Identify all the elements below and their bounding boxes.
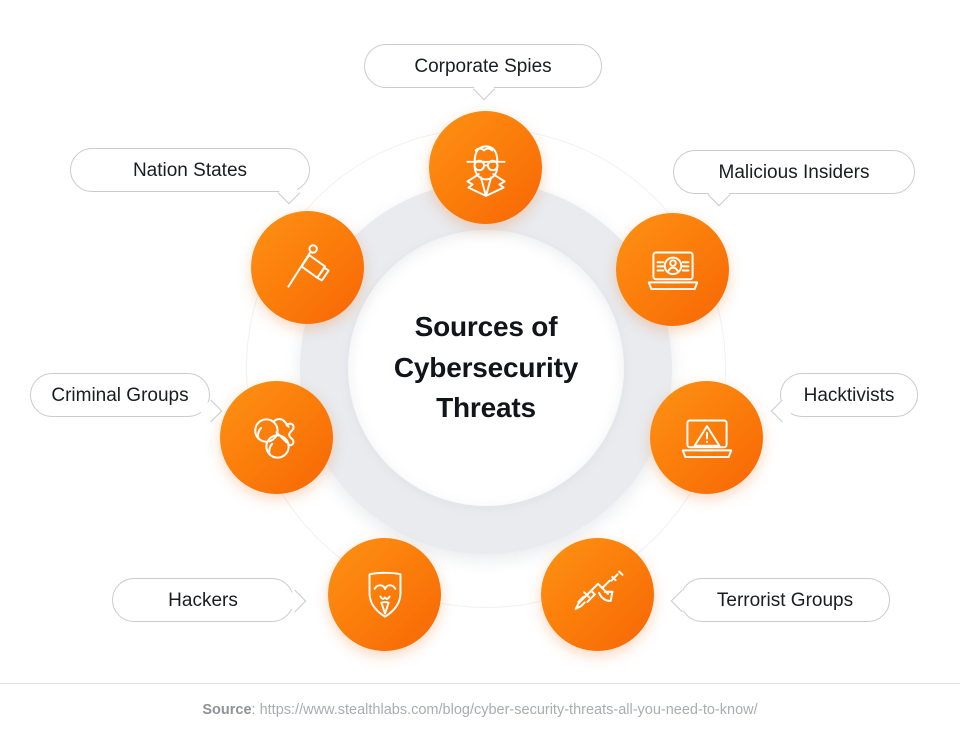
label-text: Terrorist Groups	[717, 591, 853, 610]
anonymous-mask-icon	[352, 562, 418, 628]
source-label: Source	[202, 702, 251, 718]
source-url[interactable]: https://www.stealthlabs.com/blog/cyber-s…	[260, 702, 758, 718]
spy-icon	[453, 135, 519, 201]
node-hackers[interactable]	[328, 538, 441, 651]
label-terrorist-groups[interactable]: Terrorist Groups	[680, 578, 890, 622]
node-nation-states[interactable]	[251, 211, 364, 324]
rifle-icon	[564, 561, 632, 629]
node-terrorist-groups[interactable]	[541, 538, 654, 651]
flag-icon	[275, 235, 341, 301]
node-hacktivists[interactable]	[650, 381, 763, 494]
laptop-user-icon	[640, 237, 706, 303]
label-nation-states[interactable]: Nation States	[70, 148, 310, 192]
label-text: Corporate Spies	[414, 57, 551, 76]
footer-divider	[0, 683, 960, 684]
source-separator: :	[252, 702, 260, 718]
node-malicious-insiders[interactable]	[616, 213, 729, 326]
page-title: Sources of Cybersecurity Threats	[348, 230, 624, 506]
label-text: Criminal Groups	[51, 386, 188, 405]
label-hacktivists[interactable]: Hacktivists	[780, 373, 918, 417]
infographic-canvas: Sources of Cybersecurity Threats Corpora…	[0, 0, 960, 744]
node-criminal-groups[interactable]	[220, 381, 333, 494]
handcuffs-icon	[243, 404, 311, 472]
node-corporate-spies[interactable]	[429, 111, 542, 224]
label-text: Nation States	[133, 161, 247, 180]
label-criminal-groups[interactable]: Criminal Groups	[30, 373, 210, 417]
label-hackers[interactable]: Hackers	[112, 578, 294, 622]
label-text: Hacktivists	[804, 386, 895, 405]
label-text: Hackers	[168, 591, 238, 610]
label-text: Malicious Insiders	[719, 163, 870, 182]
label-malicious-insiders[interactable]: Malicious Insiders	[673, 150, 915, 194]
source-line: Source: https://www.stealthlabs.com/blog…	[0, 702, 960, 718]
laptop-warning-icon	[674, 405, 740, 471]
